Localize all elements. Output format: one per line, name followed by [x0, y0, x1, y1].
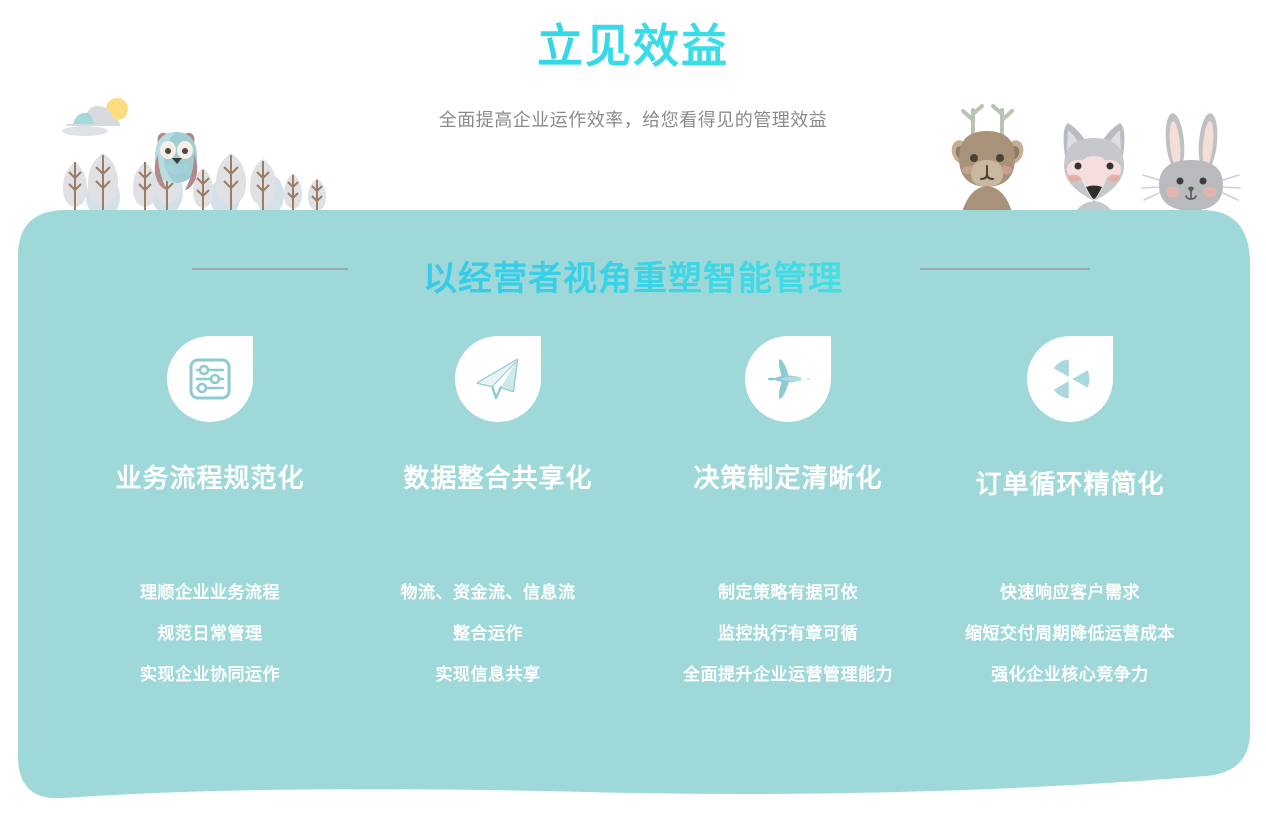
space-shuttle-icon-badge [745, 336, 831, 422]
page-subtitle: 全面提高企业运作效率，给您看得见的管理效益 [0, 106, 1266, 132]
sliders-icon [185, 354, 235, 404]
benefit-line: 实现信息共享 [348, 654, 628, 695]
benefit-card-lines: 快速响应客户需求 缩短交付周期降低运营成本 强化企业核心竞争力 [930, 572, 1210, 695]
benefit-card-lines: 制定策略有据可依 监控执行有章可循 全面提升企业运营管理能力 [648, 572, 928, 695]
benefit-line: 制定策略有据可依 [648, 572, 928, 613]
benefit-line: 监控执行有章可循 [648, 613, 928, 654]
benefit-line: 缩短交付周期降低运营成本 [930, 613, 1210, 654]
benefit-card-title: 订单循环精简化 [930, 464, 1210, 501]
benefits-panel: 以经营者视角重塑智能管理 [0, 196, 1266, 826]
space-shuttle-icon [762, 353, 814, 405]
benefit-line: 整合运作 [348, 613, 628, 654]
benefit-card-order[interactable]: 订单循环精简化 [930, 336, 1210, 501]
benefit-cards: 业务流程规范化 理顺企业业务流程 规范日常管理 实现企业协同运作 [0, 196, 1266, 826]
benefit-line: 理顺企业业务流程 [70, 572, 350, 613]
aperture-icon [1043, 352, 1097, 406]
paper-plane-icon [472, 353, 524, 405]
benefit-card-decision[interactable]: 决策制定清晰化 [648, 336, 928, 495]
benefit-line: 快速响应客户需求 [930, 572, 1210, 613]
benefit-line: 实现企业协同运作 [70, 654, 350, 695]
benefit-card-title: 业务流程规范化 [70, 458, 350, 495]
benefit-line: 强化企业核心竞争力 [930, 654, 1210, 695]
owl-icon [155, 132, 198, 190]
benefit-card-data[interactable]: 数据整合共享化 [358, 336, 638, 495]
paper-plane-icon-badge [455, 336, 541, 422]
aperture-icon-badge [1027, 336, 1113, 422]
benefit-line: 全面提升企业运营管理能力 [648, 654, 928, 695]
benefit-card-process[interactable]: 业务流程规范化 [70, 336, 350, 495]
benefit-line: 物流、资金流、信息流 [348, 572, 628, 613]
page-root: 立见效益 全面提高企业运作效率，给您看得见的管理效益 [0, 0, 1266, 826]
benefit-card-title: 数据整合共享化 [358, 458, 638, 495]
page-title: 立见效益 [0, 10, 1266, 76]
benefit-card-lines: 理顺企业业务流程 规范日常管理 实现企业协同运作 [70, 572, 350, 695]
benefit-card-lines: 物流、资金流、信息流 整合运作 实现信息共享 [348, 572, 628, 695]
sliders-icon-badge [167, 336, 253, 422]
benefit-line: 规范日常管理 [70, 613, 350, 654]
benefit-card-title: 决策制定清晰化 [648, 458, 928, 495]
